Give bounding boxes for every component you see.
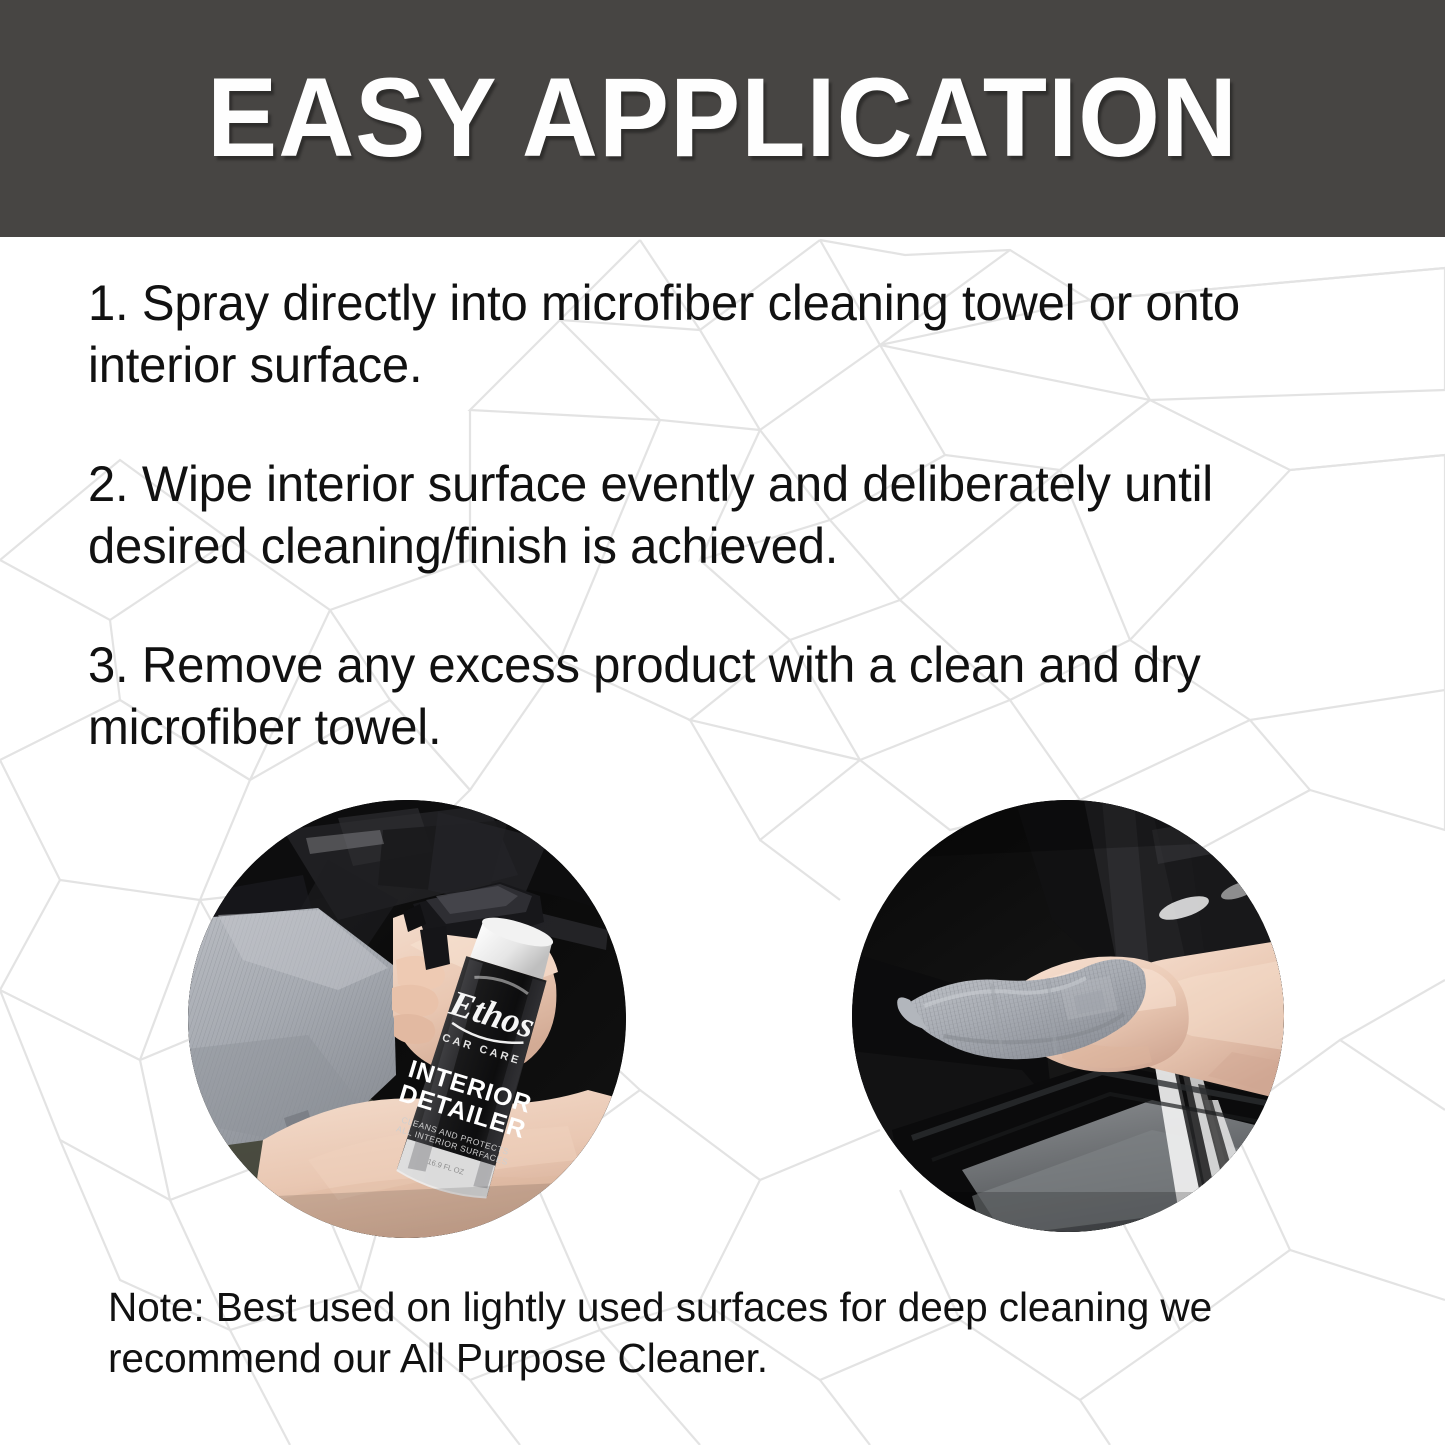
instruction-step-3: 3. Remove any excess product with a clea… [88,634,1342,758]
instruction-steps: 1. Spray directly into microfiber cleani… [88,272,1368,758]
product-instructions-infographic: EASY APPLICATION 1. Spray directly into … [0,0,1445,1445]
usage-note: Note: Best used on lightly used surfaces… [108,1282,1276,1384]
instruction-step-2: 2. Wipe interior surface evently and del… [88,453,1342,577]
page-title: EASY APPLICATION [43,62,1401,174]
header-banner: EASY APPLICATION [0,0,1445,237]
photo-wipe-application [852,800,1284,1232]
photo-spray-application: Ethos CAR CARE INTERIOR DETAILER CLEANS … [188,800,626,1238]
instruction-step-1: 1. Spray directly into microfiber cleani… [88,272,1342,396]
